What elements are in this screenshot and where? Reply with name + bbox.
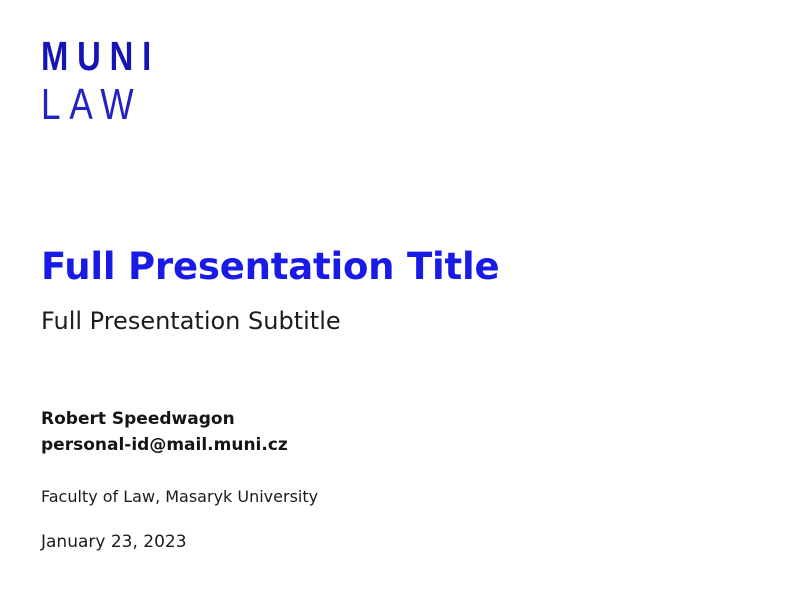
logo-muni-wordmark: MUNI <box>41 34 201 78</box>
logo-law-wordmark: LAW <box>41 82 201 128</box>
author-name: Robert Speedwagon <box>41 406 288 432</box>
author-affiliation: Faculty of Law, Masaryk University <box>41 485 318 509</box>
presentation-date: January 23, 2023 <box>41 529 187 555</box>
muni-law-logo: MUNI LAW <box>41 34 241 128</box>
author-block: Robert Speedwagon personal-id@mail.muni.… <box>41 406 288 458</box>
title-slide: MUNI LAW Full Presentation Title Full Pr… <box>0 0 794 596</box>
presentation-title: Full Presentation Title <box>41 245 499 289</box>
author-email: personal-id@mail.muni.cz <box>41 432 288 458</box>
presentation-subtitle: Full Presentation Subtitle <box>41 305 341 337</box>
